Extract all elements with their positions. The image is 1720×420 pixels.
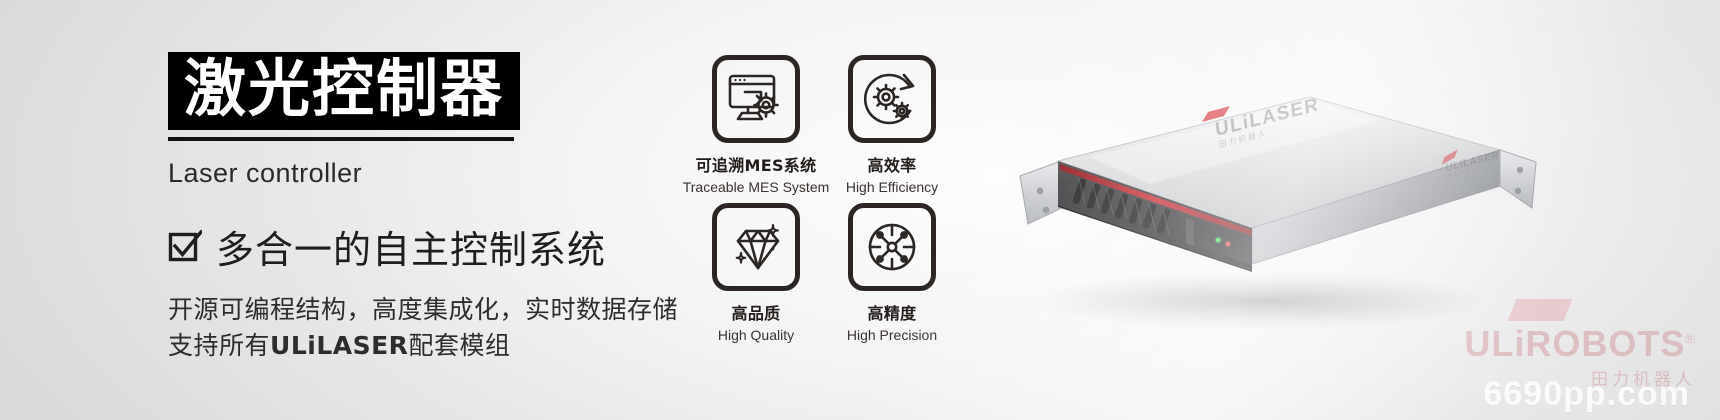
feature-label-cn-efficiency: 高效率 xyxy=(868,152,917,176)
brand-watermark-cn: 田力机器人 xyxy=(1464,365,1696,390)
product-image: ULiLASER 田力机器人 ULiLASER 田力机器人 xyxy=(980,58,1540,348)
description-line-2-prefix: 支持所有 xyxy=(168,331,270,360)
cycle-gears-icon xyxy=(848,55,936,143)
feature-item-quality: 高品质 High Quality xyxy=(690,203,822,343)
feature-label-en-quality: High Quality xyxy=(718,327,794,343)
monitor-gear-icon xyxy=(712,55,800,143)
brand-name-inline: ULiLASER xyxy=(270,331,408,360)
checkbox-checked-icon xyxy=(168,230,202,264)
description-line-2: 支持所有ULiLASER配套模组 xyxy=(168,328,728,364)
description-line-2-suffix: 配套模组 xyxy=(408,331,510,360)
feature-icon-grid: 可追溯MES系统 Traceable MES System xyxy=(690,55,958,343)
description-line-1: 开源可编程结构，高度集成化，实时数据存储 xyxy=(168,292,728,328)
title-bar: 激光控制器 xyxy=(168,52,520,130)
feature-label-en-mes: Traceable MES System xyxy=(683,179,830,195)
laser-controller-rack-unit: ULiLASER 田力机器人 ULiLASER 田力机器人 xyxy=(980,58,1540,358)
banner-root: 激光控制器 Laser controller 多合一的自主控制系统 开源可编程结… xyxy=(0,0,1720,420)
feature-item-precision: 高精度 High Precision xyxy=(826,203,958,343)
diamond-sparkle-icon xyxy=(712,203,800,291)
site-watermark: 6690pp.com xyxy=(1483,375,1690,414)
target-crosshair-icon xyxy=(848,203,936,291)
headline-block: 激光控制器 Laser controller 多合一的自主控制系统 开源可编程结… xyxy=(168,52,728,363)
page-title-en: Laser controller xyxy=(168,158,728,189)
feature-text: 多合一的自主控制系统 xyxy=(216,219,606,274)
feature-label-cn-mes: 可追溯MES系统 xyxy=(696,152,817,176)
page-title-cn: 激光控制器 xyxy=(184,58,504,120)
feature-highlight: 多合一的自主控制系统 xyxy=(168,219,728,274)
feature-label-cn-quality: 高品质 xyxy=(732,300,781,324)
feature-label-en-precision: High Precision xyxy=(847,327,937,343)
feature-item-efficiency: 高效率 High Efficiency xyxy=(826,55,958,195)
title-underline xyxy=(168,137,514,141)
description-block: 开源可编程结构，高度集成化，实时数据存储 支持所有ULiLASER配套模组 xyxy=(168,292,728,363)
feature-label-en-efficiency: High Efficiency xyxy=(846,179,938,195)
feature-item-mes: 可追溯MES系统 Traceable MES System xyxy=(690,55,822,195)
feature-label-cn-precision: 高精度 xyxy=(868,300,917,324)
registered-mark-icon: ® xyxy=(1685,331,1696,346)
